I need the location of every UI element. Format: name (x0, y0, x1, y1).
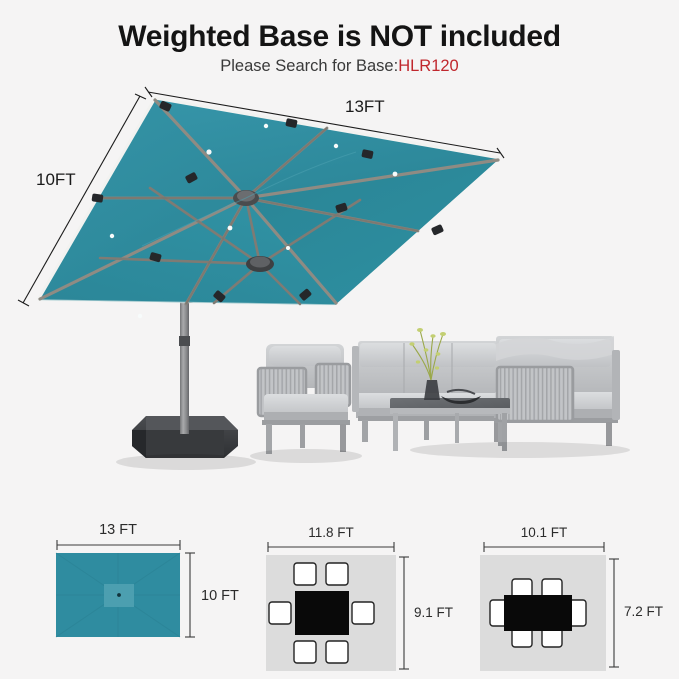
canopy-footprint-center-dot (117, 593, 121, 597)
canopy-width-label: 13 FT (99, 522, 137, 538)
dining-width-label-1: 11.8 FT (308, 525, 354, 540)
product-hero-illustration (0, 78, 679, 498)
umbrella-pole (179, 294, 190, 434)
diagram-dining-chairs-out: 11.8 FT 9.1 FT (266, 525, 453, 671)
infographic-canvas: Weighted Base is NOT included Please Sea… (0, 0, 679, 679)
dim-depth-canopy (185, 553, 195, 637)
base-model-code: HLR120 (398, 57, 459, 75)
footprint-diagrams: 13 FT 10 FT (0, 505, 679, 679)
page-title: Weighted Base is NOT included (0, 20, 679, 54)
base-search-note-prefix: Please Search for Base: (220, 57, 398, 75)
canopy-depth-label: 10 FT (201, 588, 239, 604)
dim-width-dining-1 (268, 542, 394, 552)
dim-depth-dining-2 (609, 559, 619, 667)
dim-width-canopy (57, 540, 180, 550)
patio-furniture-group (258, 328, 620, 454)
dining-table-1 (295, 591, 349, 635)
dining-width-label-2: 10.1 FT (521, 525, 568, 540)
dim-depth-dining-1 (399, 557, 409, 669)
hero-width-label: 13FT (345, 97, 385, 117)
base-search-note: Please Search for Base:HLR120 (0, 57, 679, 76)
diagram-canopy-footprint: 13 FT 10 FT (56, 522, 239, 637)
dining-depth-label-2: 7.2 FT (624, 604, 663, 619)
patio-armchair (258, 344, 350, 454)
dining-depth-label-1: 9.1 FT (414, 605, 453, 620)
dim-width-dining-2 (484, 542, 604, 552)
hero-depth-label: 10FT (36, 170, 76, 190)
sectional-corner-right (494, 336, 620, 446)
dining-table-2 (504, 595, 572, 631)
diagram-dining-chairs-tucked: 10.1 FT 7.2 FT (480, 525, 663, 671)
cantilever-umbrella-canopy (38, 98, 500, 318)
